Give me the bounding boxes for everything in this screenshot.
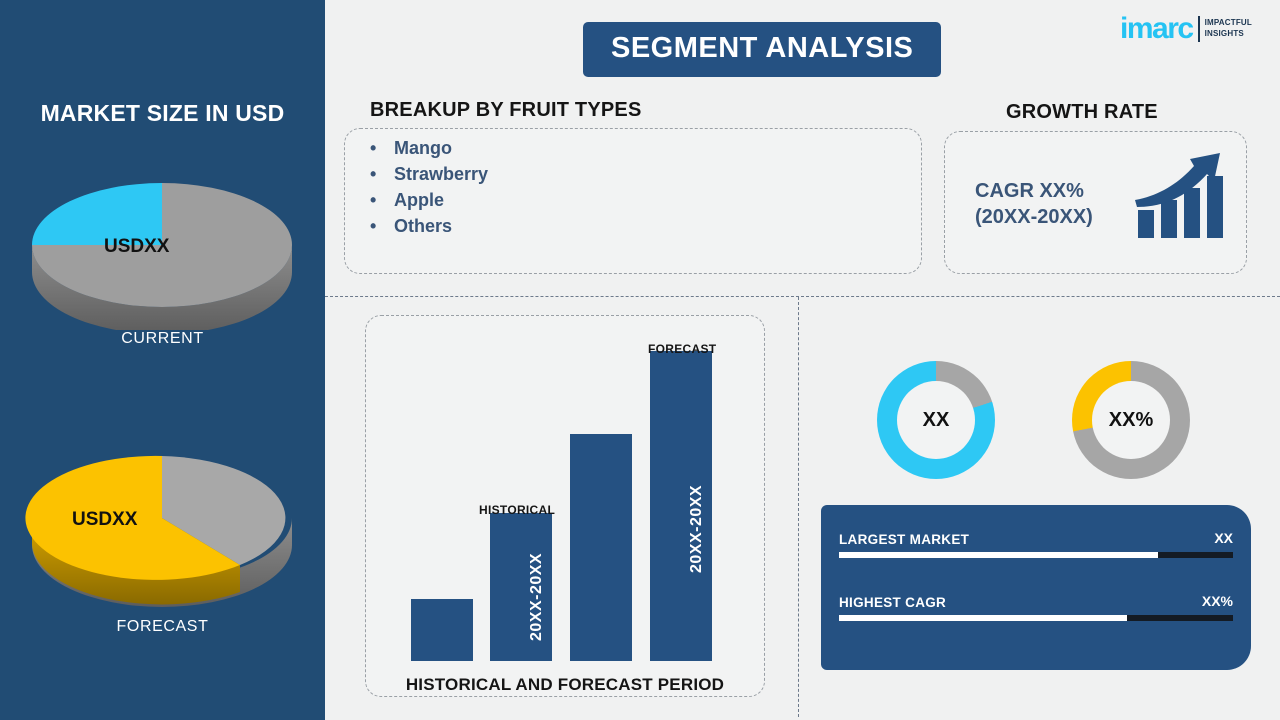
list-item: • Apple xyxy=(370,190,488,211)
logo-tagline-line2: INSIGHTS xyxy=(1205,29,1252,40)
breakup-heading: BREAKUP BY FRUIT TYPES xyxy=(370,99,641,122)
bullet-icon: • xyxy=(370,164,394,185)
list-item-label: Others xyxy=(394,216,452,237)
largest-market-label: LARGEST MARKET xyxy=(839,532,969,547)
historical-annotation: HISTORICAL xyxy=(479,503,555,517)
logo-tagline-line1: IMPACTFUL xyxy=(1205,18,1252,29)
forecast-annotation: FORECAST xyxy=(648,342,716,356)
bar-1 xyxy=(411,599,473,661)
bar-chart-axis-label: HISTORICAL AND FORECAST PERIOD xyxy=(365,675,765,695)
logo-wordmark: imarc xyxy=(1120,14,1193,44)
highest-cagr-label: HIGHEST CAGR xyxy=(839,595,946,610)
current-pie-chart: USDXX CURRENT xyxy=(0,160,325,348)
current-pie-value: USDXX xyxy=(104,236,170,257)
bullet-icon: • xyxy=(370,216,394,237)
page-title: SEGMENT ANALYSIS xyxy=(583,22,941,77)
cagr-line1: CAGR XX% xyxy=(975,178,1093,204)
highest-cagr-value: XX% xyxy=(1202,593,1233,609)
bar-2-label: 20XX-20XX xyxy=(528,553,546,641)
list-item: • Others xyxy=(370,216,488,237)
historical-forecast-bar-chart: 20XX-20XX HISTORICAL 20XX-20XX FORECAST xyxy=(365,315,765,697)
imarc-logo: imarc IMPACTFUL INSIGHTS xyxy=(1120,14,1252,44)
largest-market-progress-track xyxy=(839,552,1233,558)
forecast-pie-value: USDXX xyxy=(72,509,138,530)
list-item: • Mango xyxy=(370,138,488,159)
header: SEGMENT ANALYSIS imarc IMPACTFUL INSIGHT… xyxy=(325,0,1280,95)
logo-tagline: IMPACTFUL INSIGHTS xyxy=(1205,18,1252,40)
forecast-pie-svg: USDXX xyxy=(0,440,325,615)
list-item-label: Apple xyxy=(394,190,444,211)
list-item-label: Strawberry xyxy=(394,164,488,185)
forecast-pie-caption: FORECAST xyxy=(0,618,325,636)
breakup-list: • Mango • Strawberry • Apple • Others xyxy=(370,138,488,242)
horizontal-divider xyxy=(325,296,1280,297)
vertical-divider xyxy=(798,297,799,717)
growth-rate-heading: GROWTH RATE xyxy=(1006,101,1158,124)
current-pie-caption: CURRENT xyxy=(0,330,325,348)
market-size-title: MARKET SIZE IN USD xyxy=(0,100,325,127)
stat-row-largest-market: LARGEST MARKET XX xyxy=(839,532,1233,558)
cagr-line2: (20XX-20XX) xyxy=(975,204,1093,230)
largest-market-value: XX xyxy=(1214,530,1233,546)
bullet-icon: • xyxy=(370,190,394,211)
largest-market-progress-fill xyxy=(839,552,1158,558)
list-item: • Strawberry xyxy=(370,164,488,185)
largest-market-donut: XX xyxy=(877,361,995,479)
stat-row-highest-cagr: HIGHEST CAGR XX% xyxy=(839,595,1233,621)
key-stats-panel: LARGEST MARKET XX HIGHEST CAGR XX% xyxy=(821,505,1251,670)
highest-cagr-progress-track xyxy=(839,615,1233,621)
highest-cagr-donut-value: XX% xyxy=(1092,381,1170,459)
bar-4: 20XX-20XX xyxy=(650,351,712,661)
largest-market-donut-value: XX xyxy=(897,381,975,459)
market-size-panel: MARKET SIZE IN USD USDXX xyxy=(0,0,325,720)
forecast-pie-chart: USDXX FORECAST xyxy=(0,440,325,636)
bar-2: 20XX-20XX xyxy=(490,513,552,661)
list-item-label: Mango xyxy=(394,138,452,159)
bullet-icon: • xyxy=(370,138,394,159)
highest-cagr-donut: XX% xyxy=(1072,361,1190,479)
cagr-text: CAGR XX% (20XX-20XX) xyxy=(975,178,1093,230)
bar-4-label: 20XX-20XX xyxy=(688,485,706,573)
logo-divider xyxy=(1198,16,1200,42)
growth-arrow-bars-icon xyxy=(1132,148,1228,249)
highest-cagr-progress-fill xyxy=(839,615,1127,621)
infographic-page: MARKET SIZE IN USD USDXX xyxy=(0,0,1280,720)
bar-3 xyxy=(570,434,632,661)
current-pie-svg: USDXX xyxy=(0,160,325,330)
